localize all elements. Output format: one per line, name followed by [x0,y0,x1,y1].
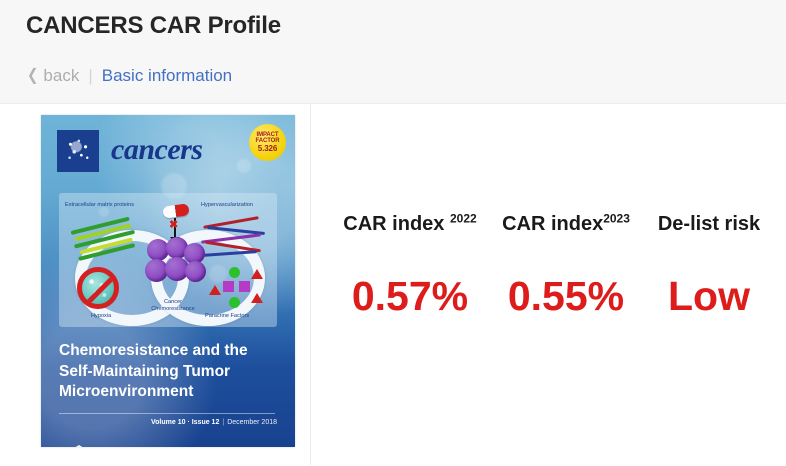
metric-de-list-risk: De-list risk Low [642,213,776,317]
journal-cover-image[interactable]: cancers IMPACT FACTOR 5.326 [41,115,295,447]
journal-cover-canvas: cancers IMPACT FACTOR 5.326 [41,115,295,447]
back-link-label: back [43,66,79,86]
impact-factor-badge: IMPACT FACTOR 5.326 [249,124,286,161]
bokeh-dot [237,159,251,173]
cancers-logo-mark [57,130,99,172]
metric-car-index-2022: CAR index 2022 0.57% [330,213,490,317]
cover-issue-line: Volume 10 · Issue 12|December 2018 [151,419,277,426]
hypoxia-no-entry-icon [77,267,119,309]
metric-label: De-list risk [658,213,760,236]
metric-value: Low [668,276,750,317]
diagram-label-paracrine: Paracrine Factors [205,313,249,319]
breadcrumb-separator: | [88,66,92,86]
chevron-left-icon: ❮ [27,68,38,84]
metric-label-text: CAR index [343,213,444,235]
diagram-label-ecm: Extracellular matrix proteins [65,202,134,208]
cover-volume: Volume 10 · Issue 12 [151,419,219,426]
factor-triangle [251,293,263,303]
panel-divider [310,104,311,465]
metric-label: CAR index2023 [502,213,630,236]
blocked-x-icon: ✖ [169,221,181,229]
vessel [203,250,257,257]
metric-label-year: 2022 [450,211,477,225]
factor-triangle [209,285,221,295]
factor-circle [229,267,240,278]
logo-molecule-icon [57,130,99,172]
page-title: CANCERS CAR Profile [26,12,281,40]
back-link[interactable]: ❮ back [26,66,79,86]
blood-vessels-icon [201,217,271,257]
breadcrumb: ❮ back | Basic information [26,66,232,86]
cancers-car-profile-page: CANCERS CAR Profile ❮ back | Basic infor… [0,0,786,465]
mdpi-logo-icon: MDPI [59,445,99,447]
metric-label: CAR index 2022 [343,213,476,236]
metrics-row: CAR index 2022 0.57% CAR index2023 0.55%… [330,213,776,317]
metric-label-text: CAR index [502,213,603,235]
cancer-cell-cluster-icon [145,237,207,295]
metric-label-year: 2023 [603,211,630,225]
metric-car-index-2023: CAR index2023 0.55% [490,213,642,317]
cover-date: December 2018 [227,419,277,426]
paracrine-factors-icon [209,267,265,309]
factor-square [223,281,234,292]
impact-factor-value: 5.326 [258,145,278,153]
metric-value: 0.55% [508,276,624,317]
cover-footer: MDPI mdpi.com/journal/cancers [59,445,189,447]
breadcrumb-current[interactable]: Basic information [102,66,232,86]
mdpi-roof-shape [59,445,99,447]
factor-triangle [251,269,263,279]
journal-name: cancers [111,133,202,167]
factor-circle [229,297,240,308]
cover-rule [59,413,275,414]
drug-pill-icon [162,203,189,219]
diagram-label-hypervascularization: Hypervascularization [201,202,253,208]
cancer-cell [185,261,206,282]
metric-value: 0.57% [352,276,468,317]
diagram-label-hypoxia: Hypoxia [91,313,111,319]
cover-issue-separator: | [222,419,224,426]
metric-label-text: De-list risk [658,213,760,235]
diagram-label-chemoresistance: Cancer Chemoresistance [143,299,203,313]
cover-article-title: Chemoresistance and the Self-Maintaining… [59,341,273,403]
factor-square [239,281,250,292]
cover-diagram: ✖ [59,193,277,327]
